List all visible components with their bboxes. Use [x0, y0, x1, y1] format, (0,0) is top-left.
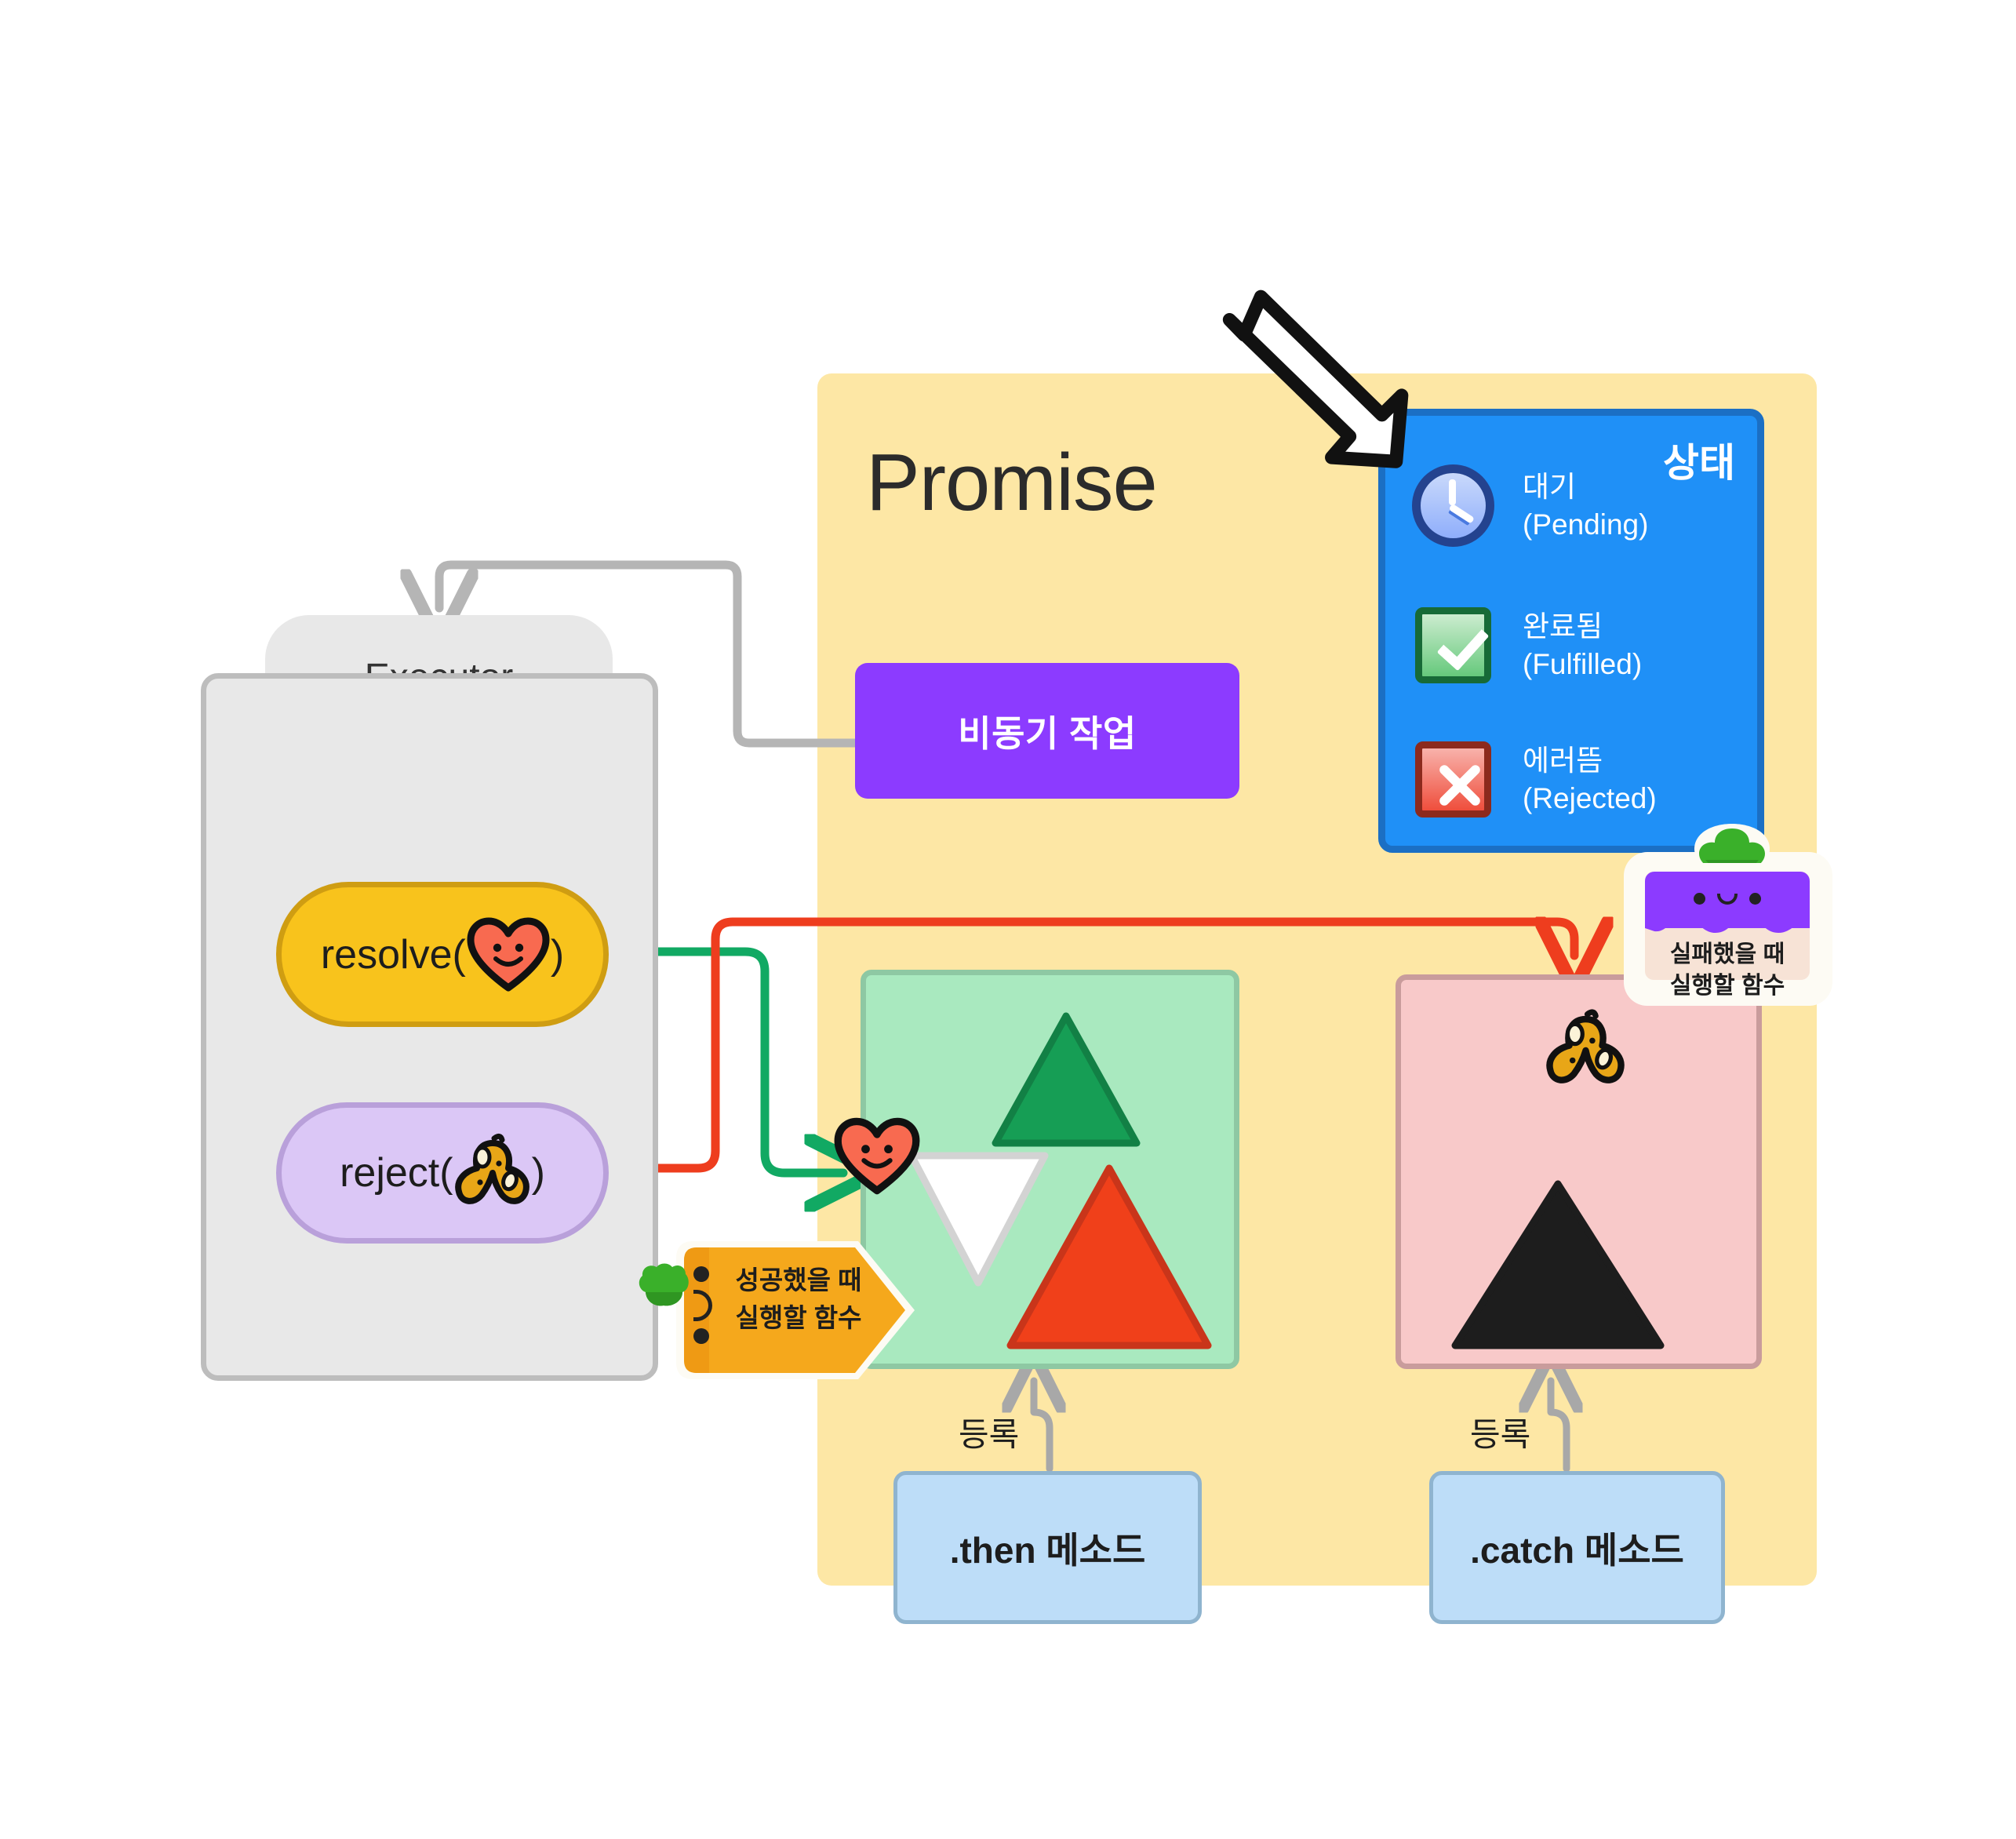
- async-task-box[interactable]: 비동기 작업: [855, 663, 1239, 799]
- state-row-rejected: 에러뜸 (Rejected): [1412, 738, 1657, 821]
- fail-callout-text: 실패했을 때 실행할 함수: [1645, 939, 1810, 1001]
- state-row-pending: 대기 (Pending): [1412, 464, 1648, 547]
- state-label-ko-pending: 대기: [1523, 468, 1648, 505]
- state-row-fulfilled: 완료됨 (Fulfilled): [1412, 604, 1642, 686]
- success-callout-line1: 성공했을 때: [720, 1262, 877, 1299]
- state-label-en-pending: (Pending): [1523, 506, 1648, 543]
- reject-suffix-label: ): [532, 1149, 545, 1196]
- red-triangle-up: [999, 1157, 1219, 1357]
- heart-face-icon: [833, 1117, 921, 1196]
- fail-callout-eye-right: [1749, 893, 1761, 905]
- catch-method-box[interactable]: .catch 메소드: [1429, 1471, 1725, 1624]
- then-method-box[interactable]: .then 메소드: [893, 1471, 1202, 1624]
- fail-callout-wave: [1645, 912, 1810, 939]
- success-callout-eye-top: [693, 1266, 709, 1282]
- page-title: Promise: [866, 442, 1157, 523]
- green-triangle-up: [988, 1007, 1144, 1156]
- success-callout-line2: 실행할 함수: [720, 1299, 877, 1337]
- success-callout-text: 성공했을 때 실행할 함수: [720, 1262, 877, 1337]
- fail-callout-eye-left: [1694, 893, 1705, 905]
- cross-icon: [1412, 738, 1494, 821]
- catch-register-label: 등록: [1470, 1408, 1530, 1456]
- state-card-title: 상태: [1663, 432, 1735, 488]
- fail-callout: 실패했을 때 실행할 함수: [1636, 863, 1818, 989]
- resolve-pill[interactable]: resolve( ): [276, 882, 609, 1027]
- state-label-en-rejected: (Rejected): [1523, 780, 1657, 817]
- resolve-suffix-label: ): [551, 931, 564, 978]
- fail-callout-line1: 실패했을 때: [1645, 939, 1810, 970]
- clock-icon: [1412, 464, 1494, 547]
- then-method-label: .then 메소드: [950, 1522, 1146, 1574]
- then-register-label: 등록: [959, 1408, 1019, 1456]
- state-label-en-fulfilled: (Fulfilled): [1523, 646, 1642, 683]
- hand-drawn-arrow-icon: [1208, 276, 1412, 480]
- resolve-prefix-label: resolve(: [321, 931, 466, 978]
- fail-callout-mouth: [1717, 894, 1738, 905]
- catch-handler-zone: [1396, 974, 1762, 1369]
- fail-callout-face: [1645, 892, 1810, 906]
- state-label-ko-rejected: 에러뜸: [1523, 742, 1657, 779]
- promise-state-card: 상태 대기 (Pending) 완료됨 (Fulfilled): [1378, 409, 1764, 853]
- catch-method-label: .catch 메소드: [1470, 1522, 1684, 1574]
- state-label-ko-fulfilled: 완료됨: [1523, 608, 1642, 645]
- black-triangle-up: [1444, 1173, 1672, 1357]
- async-task-label: 비동기 작업: [958, 705, 1136, 757]
- banana-peel-icon: [1545, 1007, 1627, 1094]
- banana-peel-icon: [453, 1132, 532, 1214]
- reject-pill[interactable]: reject( ): [276, 1102, 609, 1244]
- reject-prefix-label: reject(: [340, 1149, 453, 1196]
- green-sprout-face-icon: [635, 1262, 690, 1348]
- check-icon: [1412, 604, 1494, 686]
- success-callout-eye-bottom: [693, 1328, 709, 1344]
- fail-callout-line2: 실행할 함수: [1645, 970, 1810, 1002]
- executor-body: [201, 673, 658, 1381]
- diagram-canvas: Promise 비동기 작업: [0, 0, 2016, 1839]
- heart-face-icon: [466, 917, 551, 992]
